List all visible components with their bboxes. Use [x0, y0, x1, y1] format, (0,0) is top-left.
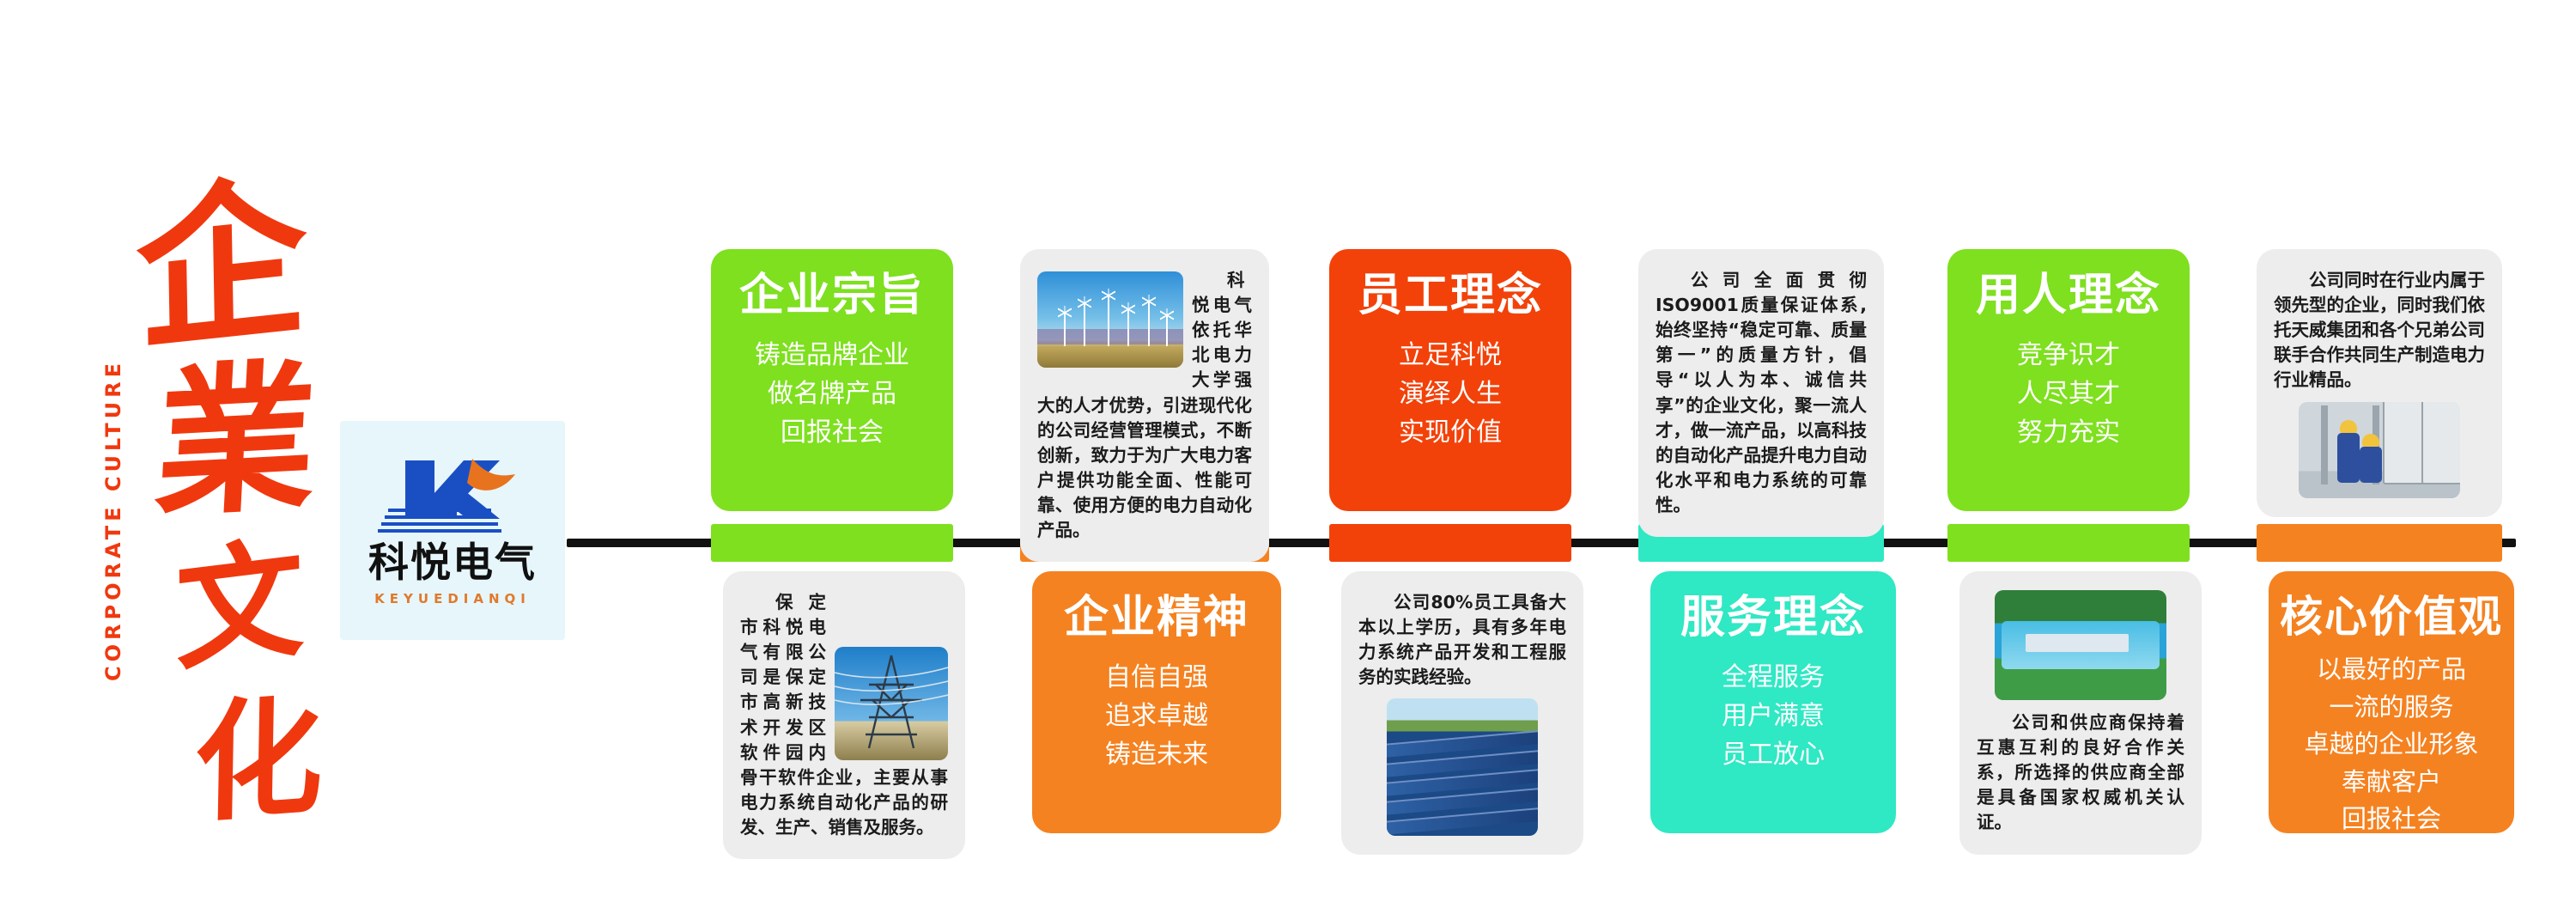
transmission-tower-photo — [835, 647, 948, 760]
logo-name-en: KEYUEDIANQI — [374, 591, 531, 606]
card-title: 服务理念 — [1680, 594, 1866, 643]
card-lines: 全程服务 用户满意 员工放心 — [1722, 658, 1825, 774]
solar-panel-farm-photo — [1387, 698, 1538, 836]
card-lines: 以最好的产品 一流的服务 卓越的企业形象 奉献客户 回报社会 — [2304, 651, 2478, 838]
logo-name-cn: 科悦电气 — [368, 543, 537, 583]
calligraphy-char-1: 企 — [135, 171, 308, 362]
hydro-dam-photo — [1995, 590, 2166, 700]
timeline-segment-orange-2 — [2257, 524, 2502, 562]
card-title: 企业精神 — [1064, 594, 1249, 643]
card-enterprise-spirit[interactable]: 企业精神 自信自强 追求卓越 铸造未来 — [1032, 571, 1281, 833]
card-lines: 竞争识才 人尽其才 努力充实 — [2017, 336, 2120, 452]
calligraphy-char-3: 文 — [174, 533, 305, 678]
logo-k-mark-icon — [371, 455, 534, 539]
timeline-segment-green-1 — [711, 524, 953, 562]
card-lines: 自信自强 追求卓越 铸造未来 — [1105, 658, 1208, 774]
card-title: 企业宗旨 — [739, 271, 925, 320]
timeline-segment-red-1 — [1329, 524, 1571, 562]
card-title: 核心价值观 — [2280, 594, 2503, 641]
calligraphy-char-2: 業 — [152, 356, 320, 526]
substation-workers-photo — [2299, 402, 2460, 498]
card-hiring-philosophy[interactable]: 用人理念 竞争识才 人尽其才 努力充实 — [1947, 249, 2190, 511]
card-title: 员工理念 — [1358, 271, 1543, 320]
card-industry-leading[interactable]: 公司同时在行业内属于领先型的企业，同时我们依托天威集团和各个兄弟公司联手合作共同… — [2257, 249, 2502, 517]
infographic-canvas: 企 業 文 化 CORPORATE CULTURE 科悦电气 KEYUEDIAN… — [0, 0, 2576, 920]
card-body-text: 公司全面贯彻ISO9001质量保证体系,始终坚持“稳定可靠、质量第一”的质量方针… — [1656, 268, 1867, 518]
card-employee-philosophy[interactable]: 员工理念 立足科悦 演绎人生 实现价值 — [1329, 249, 1571, 511]
card-lines: 立足科悦 演绎人生 实现价值 — [1399, 336, 1502, 452]
card-iso9001-quality[interactable]: 公司全面贯彻ISO9001质量保证体系,始终坚持“稳定可靠、质量第一”的质量方针… — [1638, 249, 1884, 537]
card-title: 用人理念 — [1976, 271, 2161, 320]
card-body-text: 公司同时在行业内属于领先型的企业，同时我们依托天威集团和各个兄弟公司联手合作共同… — [2274, 268, 2485, 393]
calligraphy-title: 企 業 文 化 — [112, 77, 343, 825]
card-talent-advantage[interactable]: 科悦电气依托华北电力大学强大的人才优势，引进现代化的公司经营管理模式，不断创新，… — [1020, 249, 1269, 562]
card-core-values[interactable]: 核心价值观 以最好的产品 一流的服务 卓越的企业形象 奉献客户 回报社会 — [2269, 571, 2514, 833]
company-logo: 科悦电气 KEYUEDIANQI — [340, 421, 565, 640]
card-body-text: 公司80%员工具备大本以上学历，具有多年电力系统产品开发和工程服务的实践经验。 — [1358, 590, 1566, 690]
card-company-intro[interactable]: 保定市科悦电气有限公司是保定市高新技术开发区软件园内骨干软件企业，主要从事电力系… — [723, 571, 965, 859]
card-lines: 铸造品牌企业 做名牌产品 回报社会 — [755, 336, 909, 452]
wind-farm-photo — [1037, 271, 1183, 368]
timeline-segment-green-2 — [1947, 524, 2190, 562]
card-body-text: 公司和供应商保持着互惠互利的良好合作关系，所选择的供应商全部是具备国家权威机关认… — [1977, 710, 2184, 836]
card-service-philosophy[interactable]: 服务理念 全程服务 用户满意 员工放心 — [1650, 571, 1896, 833]
card-staff-education[interactable]: 公司80%员工具备大本以上学历，具有多年电力系统产品开发和工程服务的实践经验。 — [1341, 571, 1583, 855]
calligraphy-char-4: 化 — [193, 691, 324, 829]
corporate-culture-vertical-label: CORPORATE CULTURE — [101, 359, 125, 681]
card-enterprise-purpose[interactable]: 企业宗旨 铸造品牌企业 做名牌产品 回报社会 — [711, 249, 953, 511]
card-supplier-relations[interactable]: 公司和供应商保持着互惠互利的良好合作关系，所选择的供应商全部是具备国家权威机关认… — [1959, 571, 2202, 855]
